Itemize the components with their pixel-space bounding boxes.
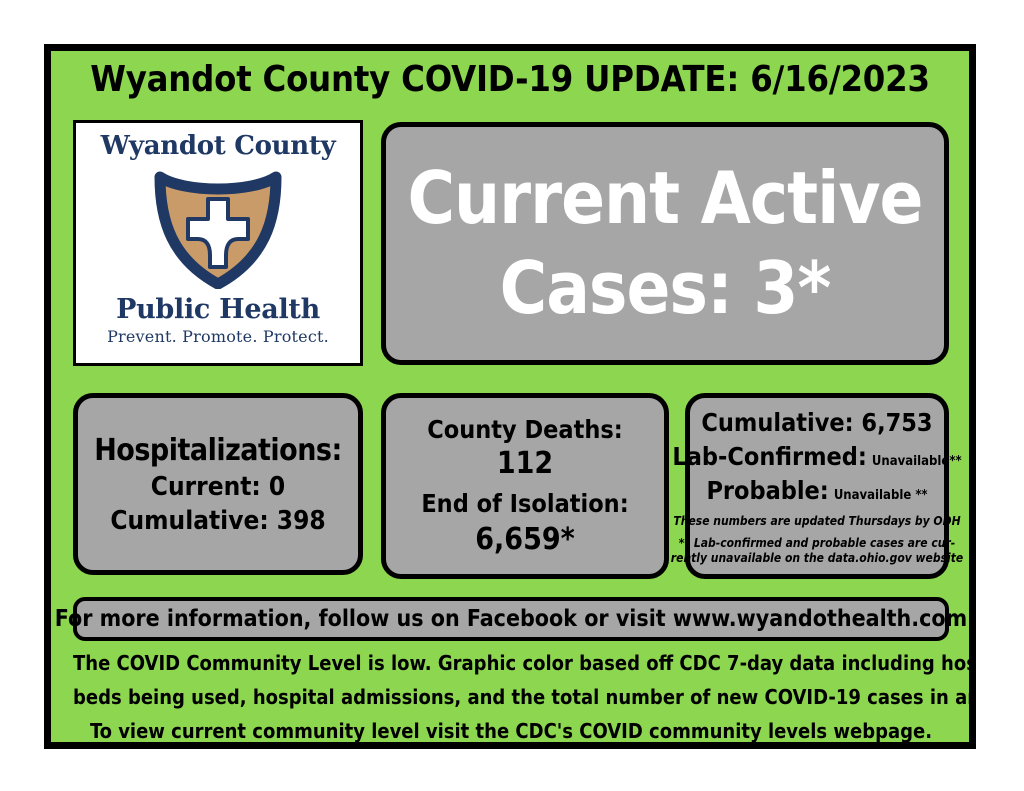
probable-label: Probable: (706, 476, 828, 505)
hospitalizations-card: Hospitalizations: Current: 0 Cumulative:… (73, 393, 363, 575)
shield-icon (152, 163, 284, 293)
more-information-text: For more information, follow us on Faceb… (55, 606, 967, 632)
probable-value: Unavailable ** (834, 488, 928, 503)
county-deaths-label: County Deaths: (427, 415, 623, 444)
hospitalizations-current: Current: 0 (151, 472, 285, 502)
cumulative-cases-card: Cumulative: 6,753 Lab-Confirmed: Unavail… (685, 393, 949, 579)
end-of-isolation-value: 6,659* (475, 522, 574, 557)
logo-tagline: Prevent. Promote. Protect. (107, 327, 329, 346)
community-level-note: The COVID Community Level is low. Graphi… (73, 653, 949, 749)
page-title: Wyandot County COVID-19 UPDATE: 6/16/202… (51, 59, 969, 100)
county-deaths-card: County Deaths: 112 End of Isolation: 6,6… (381, 393, 669, 579)
lab-confirmed-label: Lab-Confirmed: (672, 442, 866, 471)
active-cases-line2: Cases: 3* (500, 252, 831, 325)
community-level-note-line1: The COVID Community Level is low. Graphi… (73, 653, 949, 673)
active-cases-card: Current Active Cases: 3* (381, 122, 949, 365)
lab-confirmed-value: Unavailable** (872, 454, 962, 469)
logo-top-text: Wyandot County (101, 131, 336, 161)
lab-confirmed-row: Lab-Confirmed: Unavailable** (672, 442, 961, 471)
more-information-bar[interactable]: For more information, follow us on Faceb… (73, 597, 949, 641)
county-deaths-value: 112 (497, 446, 553, 481)
community-level-note-line2: beds being used, hospital admissions, an… (73, 687, 949, 707)
community-level-note-line3: To view current community level visit th… (73, 721, 949, 741)
cumulative-note-unavailable-line2: rently unavailable on the data.ohio.gov … (671, 551, 963, 566)
probable-row: Probable: Unavailable ** (706, 476, 927, 505)
agency-logo-panel: Wyandot County Public Health Prevent. Pr… (73, 120, 363, 366)
poster-container: Wyandot County COVID-19 UPDATE: 6/16/202… (44, 44, 976, 749)
cumulative-total: Cumulative: 6,753 (701, 408, 932, 437)
hospitalizations-cumulative: Cumulative: 398 (110, 506, 325, 536)
logo-bottom-text: Public Health (116, 294, 320, 325)
cumulative-note-unavailable-line1: ** Lab-confirmed and probable cases are … (679, 536, 955, 551)
hospitalizations-title: Hospitalizations: (94, 433, 342, 468)
active-cases-line1: Current Active (408, 162, 923, 235)
cumulative-note-odh: These numbers are updated Thursdays by O… (673, 514, 960, 529)
end-of-isolation-label: End of Isolation: (421, 489, 628, 518)
